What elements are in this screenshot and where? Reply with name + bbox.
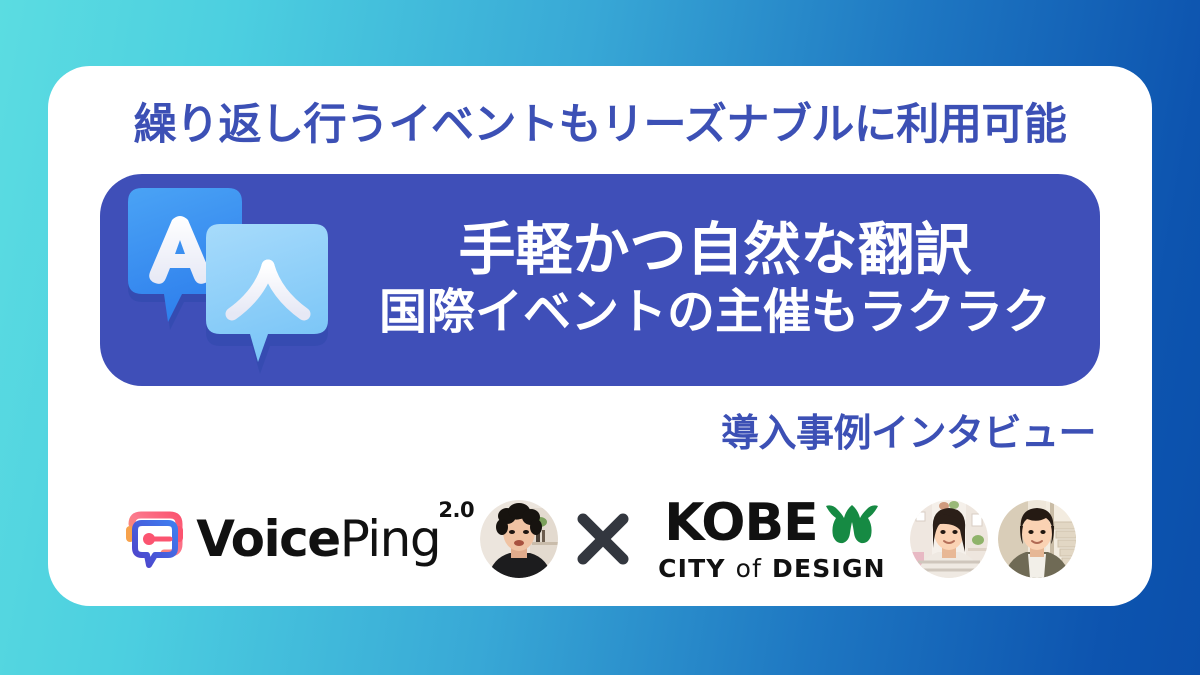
avatar-kobe-speaker-2: [998, 500, 1076, 578]
kobe-tagline: CITY of DESIGN: [658, 556, 886, 581]
voiceping-version-badge: 2.0: [438, 500, 474, 521]
banner-text-block: 手軽かつ自然な翻訳 国際イベントの主催もラクラク: [330, 174, 1100, 386]
voiceping-speech-bubble-mark: [124, 510, 184, 568]
banner-headline-secondary: 国際イベントの主催もラクラク: [379, 286, 1051, 340]
banner-headline-primary: 手軽かつ自然な翻訳: [459, 220, 972, 282]
kobe-logo-top: KOBE: [664, 497, 879, 549]
slide-canvas: 繰り返し行うイベントもリーズナブルに利用可能: [0, 0, 1200, 675]
voiceping-logo: VoicePing 2.0: [124, 510, 474, 568]
collaboration-cross-icon: [570, 506, 636, 572]
voiceping-name-light: Ping: [340, 514, 440, 564]
page-title: 繰り返し行うイベントもリーズナブルに利用可能: [48, 104, 1152, 147]
highlight-banner: 手軽かつ自然な翻訳 国際イベントの主催もラクラク: [100, 174, 1100, 386]
kobe-tagline-of: of: [736, 554, 763, 583]
translate-bubbles-icon: [110, 184, 345, 376]
kobe-wordmark: KOBE: [664, 497, 817, 549]
kobe-tagline-design: DESIGN: [772, 554, 886, 583]
subtitle-label: 導入事例インタビュー: [721, 414, 1096, 452]
kobe-city-emblem: [824, 502, 880, 544]
voiceping-name-bold: Voice: [196, 514, 340, 564]
kobe-tagline-city: CITY: [658, 554, 726, 583]
avatar-kobe-speaker-1: [910, 500, 988, 578]
kobe-speaker-avatars: [910, 500, 1076, 578]
voiceping-wordmark: VoicePing 2.0: [196, 514, 474, 564]
white-content-card: 繰り返し行うイベントもリーズナブルに利用可能: [48, 66, 1152, 606]
avatar-voiceping-speaker: [480, 500, 558, 578]
kobe-logo: KOBE CITY of DESIGN: [658, 497, 886, 581]
logo-avatar-row: VoicePing 2.0: [48, 480, 1152, 598]
